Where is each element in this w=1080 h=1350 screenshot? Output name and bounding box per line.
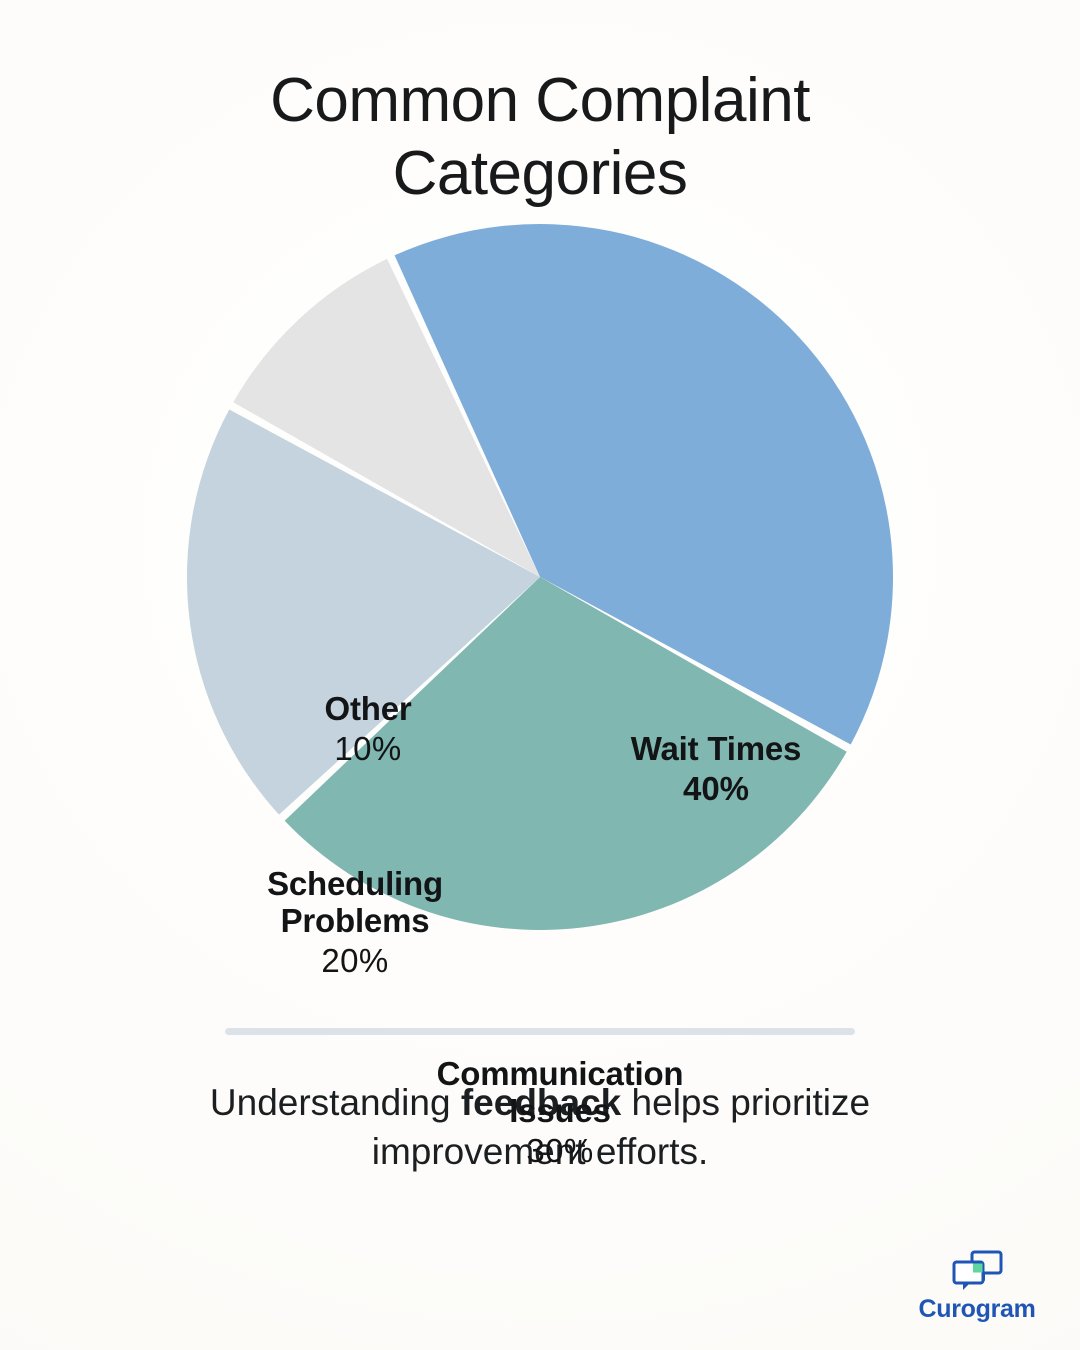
- infographic-card: Common Complaint Categories Wait Times 4…: [0, 0, 1080, 1350]
- pie-chart: Wait Times 40% Communication Issues 30% …: [0, 216, 1080, 1006]
- section-divider: [225, 1028, 855, 1035]
- slice-value-scheduling-problems: 20%: [200, 943, 510, 980]
- footer-caption: Understanding feedback helps prioritize …: [180, 1079, 900, 1177]
- pie-canvas: [187, 224, 893, 930]
- footer-lead: Understanding: [210, 1082, 461, 1123]
- footer-emphasis: feedback: [461, 1082, 621, 1123]
- pie-svg: [187, 224, 893, 930]
- page-title: Common Complaint Categories: [160, 64, 920, 210]
